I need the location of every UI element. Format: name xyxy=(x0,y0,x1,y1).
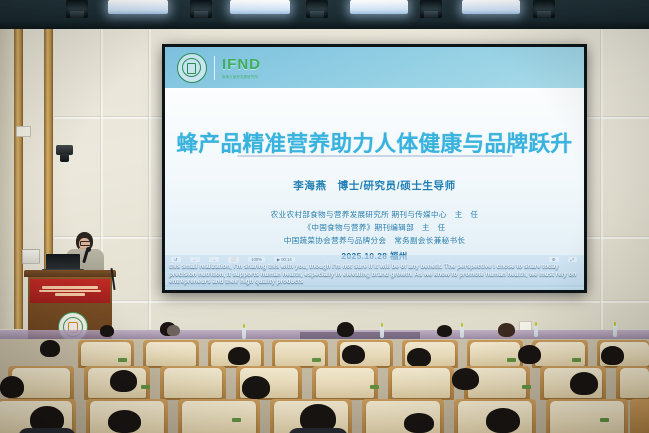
audience-seat xyxy=(146,342,196,366)
ceiling-light xyxy=(230,0,290,14)
audience-head xyxy=(337,322,354,337)
lecture-hall-photo: IFND 食物与营养发展研究所 蜂产品精准营养助力人体健康与品牌跃升 李海燕 博… xyxy=(0,0,649,433)
audience-seat xyxy=(550,401,624,433)
toolbar-item[interactable]: 100% xyxy=(248,257,265,262)
table-equipment xyxy=(300,332,420,339)
audience-head xyxy=(570,372,598,395)
banner-text-line xyxy=(42,286,98,289)
audience-head xyxy=(601,346,624,365)
laptop-screen xyxy=(46,254,80,270)
slide-speaker-name: 李海燕 博士/研究员/硕士生导师 xyxy=(165,178,584,193)
ceiling-trim-strip xyxy=(0,22,649,29)
audience-seat xyxy=(316,368,374,398)
audience-head xyxy=(342,345,365,364)
slide-affiliation: 《中国食物与营养》期刊编辑部 主 任 xyxy=(165,222,584,233)
water-bottle xyxy=(380,326,384,338)
toolbar-item[interactable]: ⤢ xyxy=(568,257,577,262)
audience-head xyxy=(498,323,515,337)
water-bottle xyxy=(534,325,538,337)
microphone-head-icon xyxy=(86,247,91,252)
audience-seat xyxy=(470,342,520,366)
seat-number-tag xyxy=(141,385,150,389)
ceiling-light xyxy=(462,0,520,14)
audience-shoulders xyxy=(288,428,348,433)
audience-seat xyxy=(620,368,649,398)
podium-red-banner xyxy=(30,279,110,303)
audience-head xyxy=(100,325,114,337)
toolbar-item[interactable]: ↺ xyxy=(171,257,181,262)
camera-lens-icon xyxy=(60,154,69,162)
logo-divider xyxy=(214,56,215,80)
seat-number-tag xyxy=(118,358,127,362)
spotlight-fixture xyxy=(306,0,328,18)
banner-text-line xyxy=(39,290,101,293)
wall-panel-seam xyxy=(55,300,649,303)
presenter-glasses xyxy=(80,241,91,246)
seat-number-tag xyxy=(507,358,516,362)
water-bottle xyxy=(460,326,464,338)
wall-outlet-plate xyxy=(16,126,31,137)
audience-seat xyxy=(535,342,585,366)
caption-text: this small realization, i'm sharing this… xyxy=(169,263,580,286)
audience-head xyxy=(167,325,180,336)
wall-panel-seam-vertical xyxy=(600,29,603,329)
podium-top-surface xyxy=(24,270,116,277)
spotlight-fixture xyxy=(190,0,212,18)
audience-head xyxy=(242,376,270,399)
audience-head xyxy=(518,345,541,364)
title-underline xyxy=(237,155,512,157)
slide-title: 蜂产品精准营养助力人体健康与品牌跃升 xyxy=(165,127,584,158)
wood-trim-left xyxy=(14,29,23,329)
seat-number-tag xyxy=(522,385,531,389)
spotlight-fixture xyxy=(66,0,88,18)
seat-number-tag xyxy=(572,358,581,362)
seat-number-tag xyxy=(370,385,379,389)
wall-left-column xyxy=(0,29,14,329)
ceiling-light xyxy=(108,0,168,14)
audience-head xyxy=(486,408,520,433)
slide-affiliation: 中国蔬菜协会营养与品牌分会 常务副会长兼秘书长 xyxy=(165,235,584,246)
logo-text: IFND xyxy=(222,57,261,72)
wall-panel-seam-vertical xyxy=(148,29,151,329)
audience-head xyxy=(407,348,431,367)
seat-number-tag xyxy=(600,418,609,422)
audience-seat xyxy=(182,401,256,433)
ceiling-light xyxy=(350,0,408,14)
audience-seat xyxy=(392,368,450,398)
banner-text-line xyxy=(55,293,85,296)
toolbar-item[interactable]: → xyxy=(209,257,219,262)
seat-frame xyxy=(630,399,649,433)
water-bottle xyxy=(242,327,246,339)
spotlight-fixture xyxy=(420,0,442,18)
toolbar-item[interactable]: ▶ 00:14 xyxy=(274,257,295,262)
toolbar-item[interactable]: ⬜ xyxy=(228,257,239,263)
slide-logo: IFND 食物与营养发展研究所 xyxy=(177,53,261,83)
projection-screen-frame: IFND 食物与营养发展研究所 蜂产品精准营养助力人体健康与品牌跃升 李海燕 博… xyxy=(162,44,587,293)
slide-affiliation: 农业农村部食物与营养发展研究所 期刊与传媒中心 主 任 xyxy=(165,209,584,220)
toolbar-item[interactable]: ⚙ xyxy=(549,257,559,262)
audience-seat xyxy=(81,342,131,366)
audience-head xyxy=(110,370,137,392)
audience-seat xyxy=(164,368,222,398)
projection-screen: IFND 食物与营养发展研究所 蜂产品精准营养助力人体健康与品牌跃升 李海燕 博… xyxy=(165,47,584,290)
caption-overlay-bar: ↺ ← → ⬜ 100% ▶ 00:14 ⚙ ⤢ this small real… xyxy=(165,255,584,287)
audience-head xyxy=(452,368,479,390)
ifnd-seal-icon xyxy=(177,53,207,83)
confidence-monitor xyxy=(22,249,40,264)
audience-head xyxy=(40,340,60,357)
audience-shoulders xyxy=(18,428,76,433)
audience-head xyxy=(228,347,250,365)
audience-seat xyxy=(275,342,325,366)
slide-header-band: IFND 食物与营养发展研究所 xyxy=(165,47,584,88)
seat-number-tag xyxy=(312,358,321,362)
logo-subtext: 食物与营养发展研究所 xyxy=(222,74,261,79)
audience-head xyxy=(437,325,452,337)
toolbar-item[interactable]: ← xyxy=(190,257,200,262)
spotlight-fixture xyxy=(533,0,555,18)
seat-number-tag xyxy=(232,418,241,422)
audience-head xyxy=(108,410,141,433)
audience-head xyxy=(0,376,24,398)
audience-head xyxy=(404,413,434,433)
water-bottle xyxy=(613,325,617,337)
